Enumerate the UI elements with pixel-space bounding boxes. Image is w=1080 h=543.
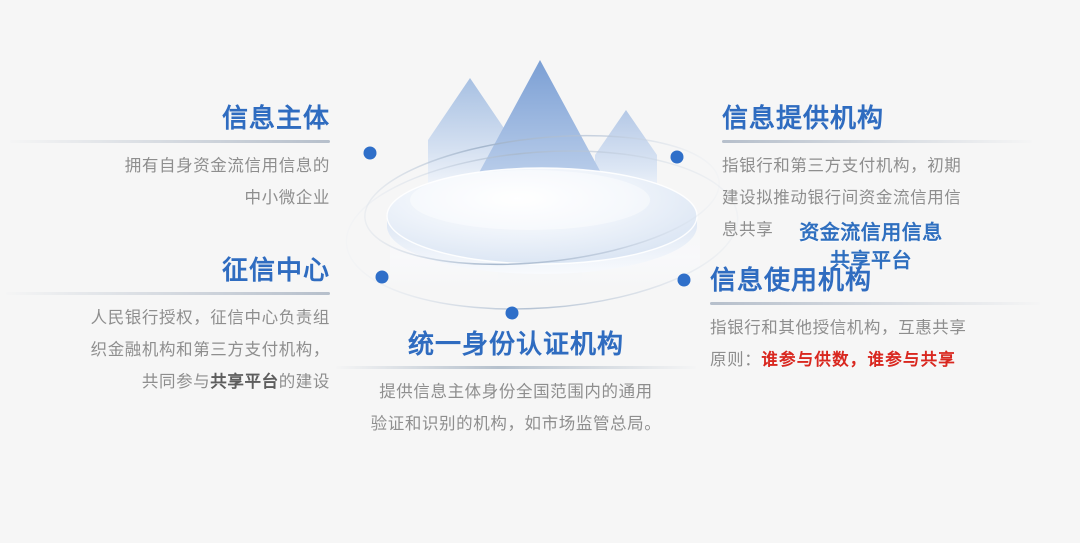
body-emphasis-principle: 谁参与供数，谁参与共享 xyxy=(761,350,956,369)
mountain-platform-orbit-graphic: 资金流信用信息 共享平台 xyxy=(330,30,750,340)
body-line: 提供信息主体身份全国范围内的通用 xyxy=(336,376,696,408)
block-credit-reference-center: 征信中心 人民银行授权，征信中心负责组 织金融机构和第三方支付机构， 共同参与共… xyxy=(6,256,330,399)
body-line: 共同参与共享平台的建设 xyxy=(6,366,330,398)
body-line: 人民银行授权，征信中心负责组 xyxy=(6,302,330,334)
body-line: 建设拟推动银行间资金流信用信 xyxy=(722,182,1032,214)
platform-disc xyxy=(387,168,697,274)
title-underline xyxy=(336,366,696,369)
block-information-user: 信息使用机构 指银行和其他授信机构，互惠共享 原则：谁参与供数，谁参与共享 xyxy=(710,266,1040,376)
body-line: 中小微企业 xyxy=(10,182,330,214)
block-body-information-user: 指银行和其他授信机构，互惠共享 原则：谁参与供数，谁参与共享 xyxy=(710,312,1040,376)
block-title-information-provider: 信息提供机构 xyxy=(722,104,1032,133)
orbit-node xyxy=(364,147,377,160)
orbit-node xyxy=(671,151,684,164)
title-underline xyxy=(10,140,330,143)
orbit-nodes xyxy=(364,147,691,320)
block-title-information-user: 信息使用机构 xyxy=(710,266,1040,295)
body-line: 指银行和第三方支付机构，初期 xyxy=(722,150,1032,182)
block-body-unified-identity-authentication: 提供信息主体身份全国范围内的通用 验证和识别的机构，如市场监管总局。 xyxy=(336,376,696,440)
orbit-node xyxy=(678,274,691,287)
block-body-information-subject: 拥有自身资金流信用信息的 中小微企业 xyxy=(10,150,330,214)
block-unified-identity-authentication: 统一身份认证机构 提供信息主体身份全国范围内的通用 验证和识别的机构，如市场监管… xyxy=(336,330,696,440)
body-line: 原则：谁参与供数，谁参与共享 xyxy=(710,344,1040,376)
block-information-subject: 信息主体 拥有自身资金流信用信息的 中小微企业 xyxy=(10,104,330,214)
orbit-rings xyxy=(341,120,743,322)
block-title-unified-identity-authentication: 统一身份认证机构 xyxy=(336,330,696,359)
body-line: 指银行和其他授信机构，互惠共享 xyxy=(710,312,1040,344)
block-title-information-subject: 信息主体 xyxy=(10,104,330,133)
block-information-provider: 信息提供机构 指银行和第三方支付机构，初期 建设拟推动银行间资金流信用信 息共享 xyxy=(722,104,1032,247)
body-line: 息共享 xyxy=(722,214,1032,246)
title-underline xyxy=(722,140,1032,143)
block-body-information-provider: 指银行和第三方支付机构，初期 建设拟推动银行间资金流信用信 息共享 xyxy=(722,150,1032,247)
block-title-credit-reference-center: 征信中心 xyxy=(6,256,330,285)
body-emphasis-platform: 共享平台 xyxy=(210,372,278,391)
body-line: 拥有自身资金流信用信息的 xyxy=(10,150,330,182)
mountain-shapes xyxy=(390,60,700,290)
diagram-canvas: 资金流信用信息 共享平台 信息主体 拥有自身资金流信用信息的 中小微企业 征信中… xyxy=(0,0,1080,543)
body-text: 原则： xyxy=(710,350,761,369)
body-line: 验证和识别的机构，如市场监管总局。 xyxy=(336,408,696,440)
body-line: 织金融机构和第三方支付机构， xyxy=(6,334,330,366)
body-text: 的建设 xyxy=(279,372,330,391)
orbit-node xyxy=(376,271,389,284)
body-text: 共同参与 xyxy=(142,372,210,391)
block-body-credit-reference-center: 人民银行授权，征信中心负责组 织金融机构和第三方支付机构， 共同参与共享平台的建… xyxy=(6,302,330,399)
title-underline xyxy=(6,292,330,295)
orbit-node xyxy=(506,307,519,320)
title-underline xyxy=(710,302,1040,305)
